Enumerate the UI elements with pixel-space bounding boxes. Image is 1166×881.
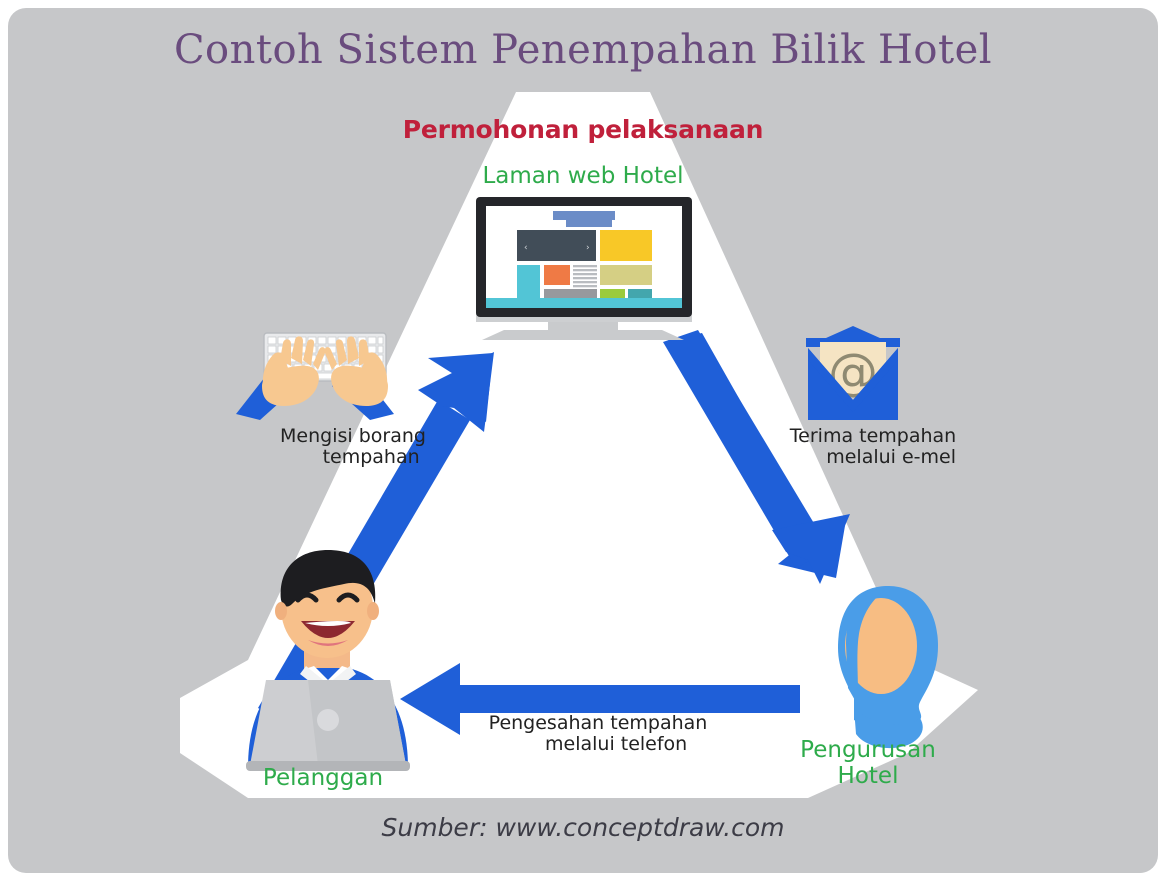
- hotel-management-node-label: Pengurusan Hotel: [733, 737, 1003, 789]
- email-envelope-icon: @: [806, 326, 900, 420]
- step-phone-label: Pengesahan tempahan melalui telefon: [453, 713, 743, 756]
- diagram-plate: ‹ ›: [8, 8, 1158, 873]
- page-title: Contoh Sistem Penempahan Bilik Hotel: [8, 28, 1158, 73]
- desktop-monitor-icon: ‹ ›: [476, 197, 692, 340]
- source-attribution: Sumber: www.conceptdraw.com: [8, 814, 1158, 842]
- svg-text:›: ›: [586, 243, 590, 253]
- step-form-label: Mengisi borang tempahan: [218, 426, 488, 469]
- svg-text:‹: ‹: [524, 243, 528, 253]
- process-label: Permohonan pelaksanaan: [283, 116, 883, 144]
- step-form-label-line2: tempahan: [323, 446, 420, 468]
- hands-keyboard-icon: [236, 333, 394, 420]
- step-email-label-line1: Terima tempahan: [790, 425, 956, 447]
- website-node-label: Laman web Hotel: [283, 163, 883, 189]
- diagram-canvas: ‹ ›: [0, 0, 1166, 881]
- step-email-label-line2: melalui e-mel: [826, 446, 956, 468]
- step-email-label: Terima tempahan melalui e-mel: [738, 426, 1008, 469]
- step-form-label-line1: Mengisi borang: [280, 425, 426, 447]
- step-phone-label-line2: melalui telefon: [545, 733, 687, 755]
- step-phone-label-line1: Pengesahan tempahan: [489, 712, 708, 734]
- customer-node-label: Pelanggan: [183, 765, 463, 791]
